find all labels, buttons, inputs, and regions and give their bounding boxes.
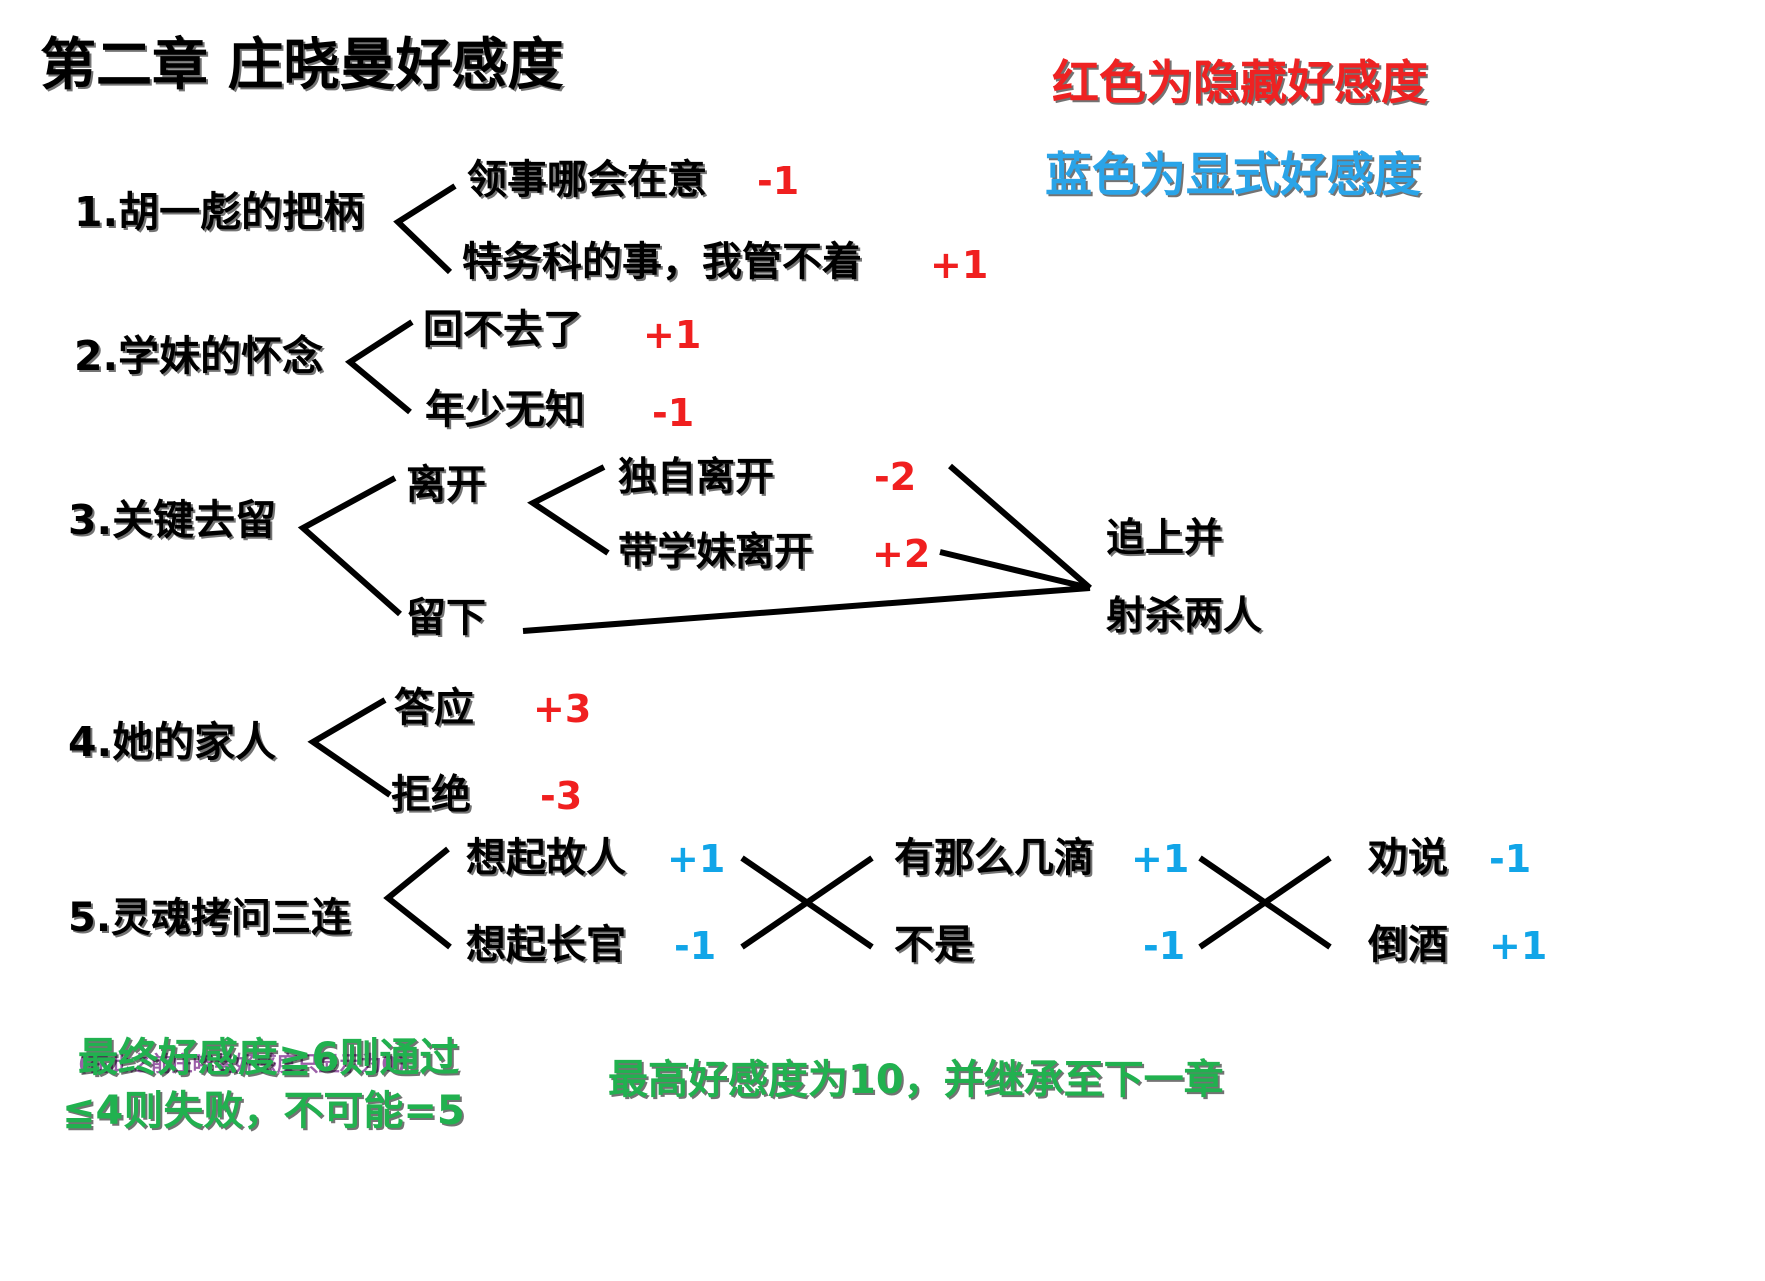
affection-flowchart: 第二章 庄晓曼好感度 红色为隐藏好感度 蓝色为显式好感度 1.胡一彪的把柄 领事… <box>0 0 1765 1281</box>
edge-s4 <box>313 700 390 795</box>
node-s5-c1-opt1: 想起故人 <box>466 838 626 878</box>
edge-s5-cross1-b <box>742 858 872 947</box>
edge-s3-main <box>303 478 400 614</box>
edge-s5-cross2-a <box>1200 858 1330 947</box>
edge-s2 <box>350 322 412 412</box>
score-s3-sub2: +2 <box>872 535 930 573</box>
node-s3-sub2: 带学妹离开 <box>618 533 813 572</box>
score-s5-c2-opt1: +1 <box>1131 840 1189 878</box>
edge-s5 <box>388 849 450 947</box>
node-s1-label: 1.胡一彪的把柄 <box>74 192 364 233</box>
score-s5-c2-opt2: -1 <box>1143 927 1185 965</box>
node-s2-opt1: 回不去了 <box>423 310 583 350</box>
edge-s5-cross1-a <box>742 858 872 947</box>
node-s5-c3-opt1: 劝说 <box>1368 838 1448 878</box>
node-s4-opt1: 答应 <box>394 688 474 728</box>
node-s4-opt2: 拒绝 <box>391 775 471 815</box>
node-s1-opt2: 特务科的事，我管不着 <box>462 242 862 282</box>
score-s1-opt2: +1 <box>930 246 988 284</box>
node-s3-opt1: 离开 <box>406 465 486 505</box>
node-s3-outcome-l2: 射杀两人 <box>1106 597 1262 636</box>
score-s5-c3-opt2: +1 <box>1489 927 1547 965</box>
edge-s3-sub <box>533 467 608 553</box>
node-s1-opt1: 领事哪会在意 <box>467 160 707 200</box>
score-s5-c1-opt2: -1 <box>674 927 716 965</box>
edge-s5-cross2-b <box>1200 858 1330 947</box>
edge-s1 <box>398 186 455 272</box>
legend-visible-affection: 蓝色为显式好感度 <box>1045 136 1421 205</box>
node-s5-label: 5.灵魂拷问三连 <box>68 898 351 938</box>
edge-s3-to-outcome-a <box>950 466 1090 588</box>
node-s3-opt2: 留下 <box>406 598 486 638</box>
score-s5-c1-opt1: +1 <box>667 840 725 878</box>
edge-s3-stay-to-outcome <box>523 588 1090 631</box>
footer-rule-line1: 最终好感度≧6则通过 <box>78 1025 459 1083</box>
node-s5-c1-opt2: 想起长官 <box>466 925 626 965</box>
node-s3-outcome-l1: 追上并 <box>1106 519 1223 558</box>
node-s5-c2-opt1: 有那么几滴 <box>894 838 1094 878</box>
node-s3-sub1: 独自离开 <box>618 458 774 497</box>
footer-rule-right: 最高好感度为10，并继承至下一章 <box>608 1047 1224 1105</box>
footer-rule-line2: ≦4则失败，不可能=5 <box>62 1078 465 1136</box>
edge-s3-to-outcome-b <box>940 552 1090 588</box>
score-s3-sub1: -2 <box>874 458 916 496</box>
score-s5-c3-opt1: -1 <box>1489 840 1531 878</box>
node-s5-c3-opt2: 倒酒 <box>1368 925 1448 965</box>
page-title: 第二章 庄晓曼好感度 <box>40 38 564 94</box>
score-s4-opt2: -3 <box>540 777 582 815</box>
legend-hidden-affection: 红色为隐藏好感度 <box>1052 44 1428 113</box>
node-s5-c2-opt2: 不是 <box>894 925 974 965</box>
score-s2-opt2: -1 <box>652 394 694 432</box>
node-s2-opt2: 年少无知 <box>425 390 585 430</box>
node-s4-label: 4.她的家人 <box>68 722 276 763</box>
score-s1-opt1: -1 <box>757 162 799 200</box>
node-s3-label: 3.关键去留 <box>68 500 276 541</box>
score-s2-opt1: +1 <box>643 316 701 354</box>
score-s4-opt1: +3 <box>533 690 591 728</box>
node-s2-label: 2.学妹的怀念 <box>74 336 323 377</box>
